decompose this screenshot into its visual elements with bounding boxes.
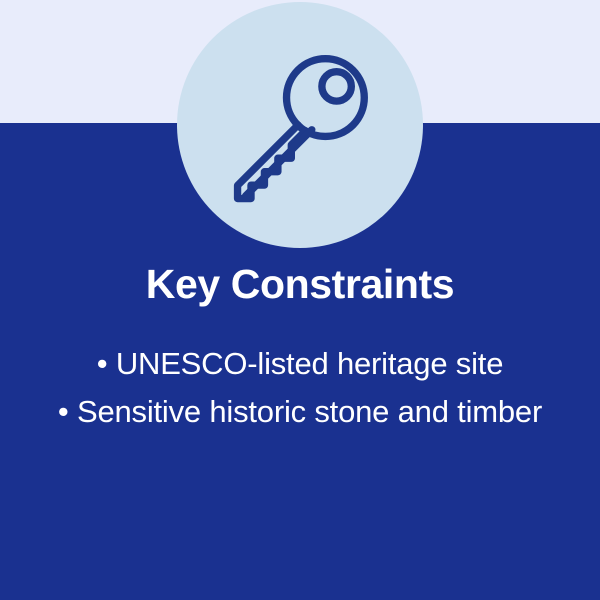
key-icon: [219, 44, 379, 204]
text-content: Key Constraints • UNESCO-listed heritage…: [0, 262, 600, 437]
list-item: • UNESCO-listed heritage site: [30, 340, 570, 388]
list-item-label: Sensitive historic stone and timber: [77, 394, 542, 429]
list-item: • Sensitive historic stone and timber: [30, 388, 570, 436]
bullet-marker: •: [58, 394, 69, 429]
icon-medallion: [177, 2, 423, 248]
list-item-label: UNESCO-listed heritage site: [116, 346, 503, 381]
key-constraints-card: Key Constraints • UNESCO-listed heritage…: [0, 0, 600, 600]
bullet-marker: •: [97, 346, 108, 381]
constraints-list: • UNESCO-listed heritage site • Sensitiv…: [0, 340, 600, 437]
page-title: Key Constraints: [0, 262, 600, 308]
